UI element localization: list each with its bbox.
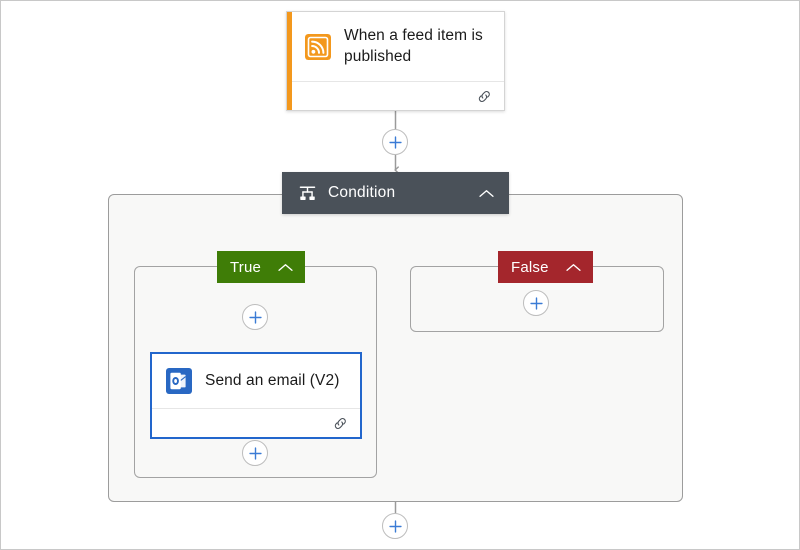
link-icon[interactable] [477,89,492,104]
false-branch-label: False [511,259,549,276]
rss-icon [305,34,331,60]
trigger-card-footer [287,81,504,110]
chevron-up-icon[interactable] [565,262,582,273]
true-branch-badge[interactable]: True [217,251,305,283]
link-icon[interactable] [333,416,348,431]
condition-label: Condition [328,184,478,202]
flow-designer-canvas: When a feed item is published [0,0,800,550]
trigger-title: When a feed item is published [344,26,492,67]
chevron-up-icon[interactable] [478,188,495,199]
send-email-card[interactable]: Send an email (V2) [150,352,362,439]
chevron-up-icon[interactable] [277,262,294,273]
trigger-accent-bar [287,12,292,110]
add-step-false-branch[interactable] [523,290,549,316]
add-step-after-condition[interactable] [382,513,408,539]
send-email-title: Send an email (V2) [205,371,339,392]
plus-icon [248,446,263,461]
plus-icon [388,519,403,534]
add-step-true-branch-top[interactable] [242,304,268,330]
true-branch-label: True [230,259,261,276]
add-step-true-branch-bottom[interactable] [242,440,268,466]
false-branch-badge[interactable]: False [498,251,593,283]
plus-icon [248,310,263,325]
plus-icon [529,296,544,311]
plus-icon [388,135,403,150]
trigger-card[interactable]: When a feed item is published [286,11,505,111]
send-email-card-footer [152,408,360,437]
outlook-icon [166,368,192,394]
add-step-after-trigger[interactable] [382,129,408,155]
condition-card[interactable]: Condition [282,172,509,214]
condition-icon [298,184,317,203]
